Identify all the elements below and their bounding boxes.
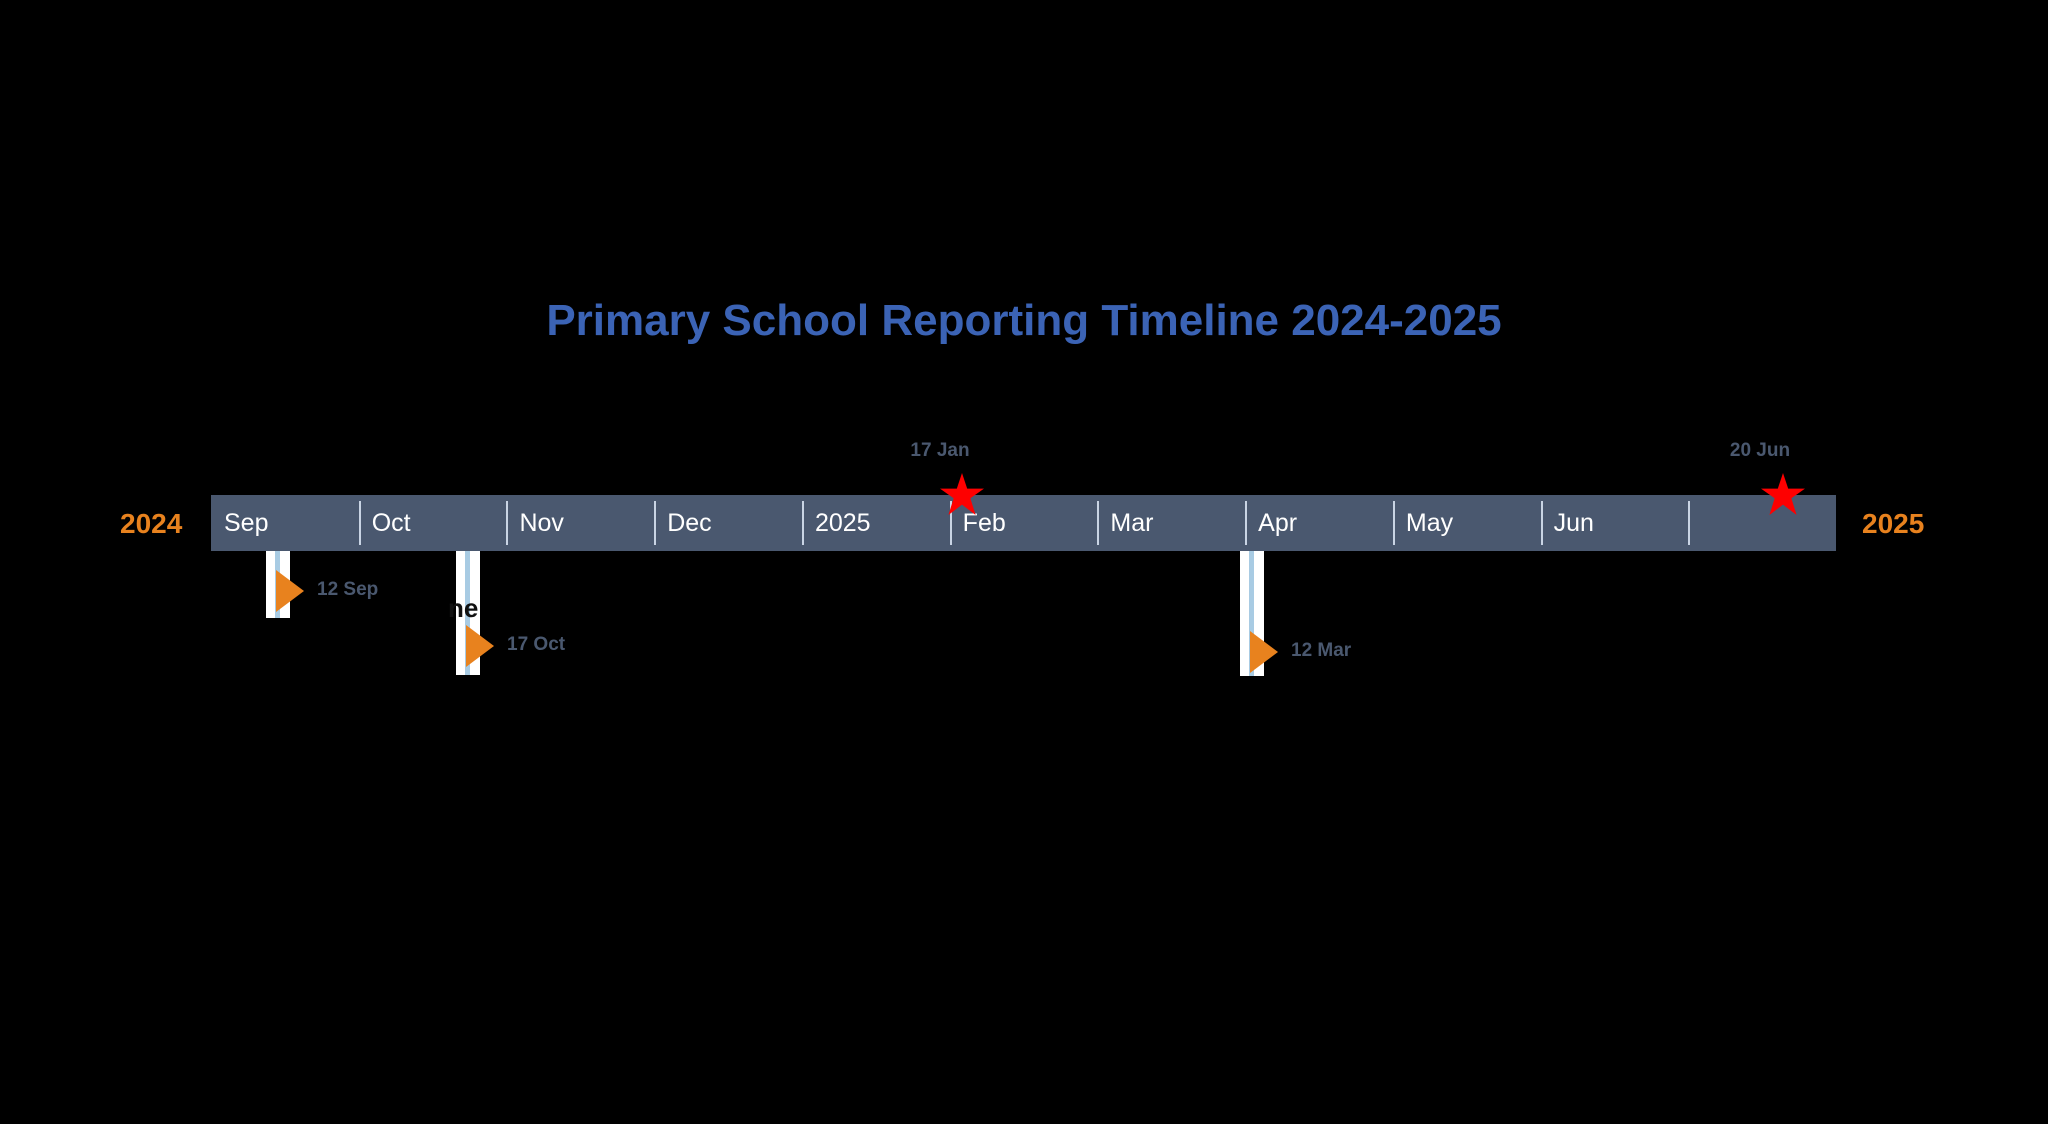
axis-month-label: Apr — [1245, 511, 1297, 536]
axis-month-cell — [1688, 495, 1836, 551]
axis-end-year-label: 2025 — [1862, 508, 1924, 540]
axis-month-cell: May — [1393, 495, 1541, 551]
milestone-label-12-sep: 12 Sep — [317, 579, 378, 601]
milestone-label-12-mar: 12 Mar — [1291, 640, 1351, 662]
axis-month-cell: Dec — [654, 495, 802, 551]
axis-month-cell: 2025 — [802, 495, 950, 551]
axis-month-cell: Nov — [506, 495, 654, 551]
axis-month-label: Oct — [359, 511, 411, 536]
axis-month-label: Jun — [1541, 511, 1594, 536]
axis-month-label: 2025 — [802, 511, 871, 536]
axis-month-label: Mar — [1097, 511, 1153, 536]
axis-month-label: Dec — [654, 511, 711, 536]
milestone-label-17-oct: 17 Oct — [507, 634, 565, 656]
axis-month-label: Nov — [506, 511, 563, 536]
arrow-icon — [466, 625, 494, 667]
overlapping-caption-fragment: ne — [448, 593, 478, 624]
axis-month-cell: Jun — [1541, 495, 1689, 551]
axis-month-label: Feb — [950, 511, 1006, 536]
axis-month-cell: Mar — [1097, 495, 1245, 551]
arrow-icon — [276, 570, 304, 612]
axis-month-label: Sep — [211, 511, 268, 536]
axis-month-label: May — [1393, 511, 1453, 536]
axis-month-cell: Oct — [359, 495, 507, 551]
axis-start-year-label: 2024 — [120, 508, 182, 540]
arrow-icon — [1250, 631, 1278, 673]
axis-month-cell: Sep — [211, 495, 359, 551]
milestone-label-17-jan: 17 Jan — [860, 440, 1020, 462]
axis-month-cell: Apr — [1245, 495, 1393, 551]
milestone-label-20-jun: 20 Jun — [1680, 440, 1840, 462]
timeline-axis-bar: Sep Oct Nov Dec 2025 Feb Mar Apr May Jun — [211, 495, 1836, 551]
page-title: Primary School Reporting Timeline 2024-2… — [0, 296, 2048, 346]
timeline-canvas: Primary School Reporting Timeline 2024-2… — [0, 0, 2048, 1124]
